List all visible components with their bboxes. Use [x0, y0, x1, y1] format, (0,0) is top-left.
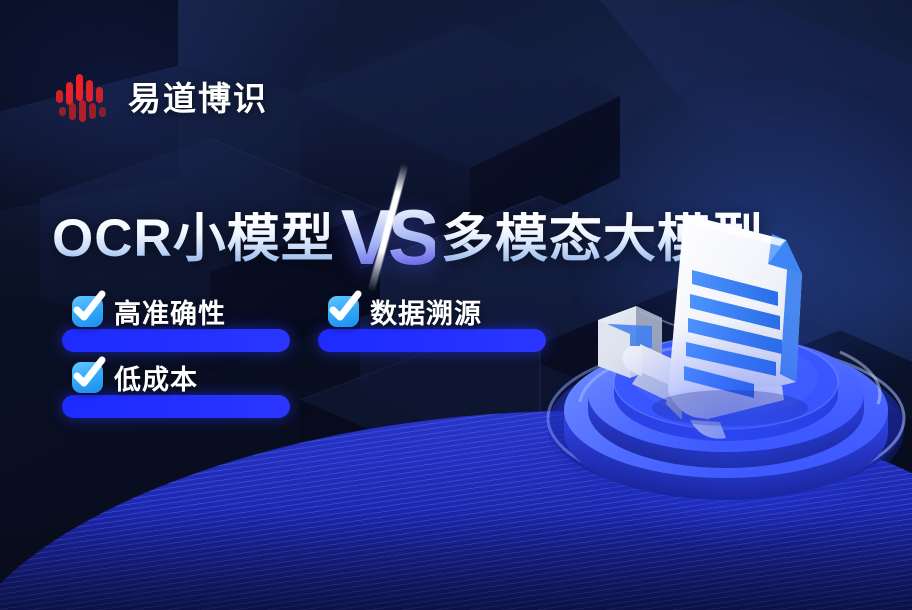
feature-pill-content: 低成本 [72, 358, 198, 397]
check-icon [72, 362, 103, 393]
feature-label: 低成本 [114, 358, 198, 397]
feature-pill-content: 数据溯源 [328, 292, 482, 331]
headline-left: OCR小模型 [52, 212, 335, 265]
feature-pill-2[interactable]: 低成本 [62, 358, 290, 418]
feature-pill-bar [318, 329, 546, 352]
feature-pill-1[interactable]: 数据溯源 [318, 292, 546, 352]
brand-logo: 易道博识 [56, 70, 268, 122]
document-on-podium-3d [540, 196, 912, 526]
feature-pill-bar [62, 395, 290, 418]
versus-badge: VS [337, 204, 439, 271]
check-icon [72, 296, 103, 327]
feature-label: 数据溯源 [370, 292, 482, 331]
waveform-logo-icon [56, 70, 112, 122]
feature-label: 高准确性 [114, 292, 226, 331]
podium-glow [570, 316, 900, 546]
brand-name: 易道博识 [128, 72, 268, 120]
feature-pill-bar [62, 329, 290, 352]
feature-pill-0[interactable]: 高准确性 [62, 292, 290, 352]
feature-pill-content: 高准确性 [72, 292, 226, 331]
check-icon [328, 296, 359, 327]
promo-banner: 易道博识 OCR小模型 VS 多模态大模型 高准确性 [0, 0, 912, 610]
